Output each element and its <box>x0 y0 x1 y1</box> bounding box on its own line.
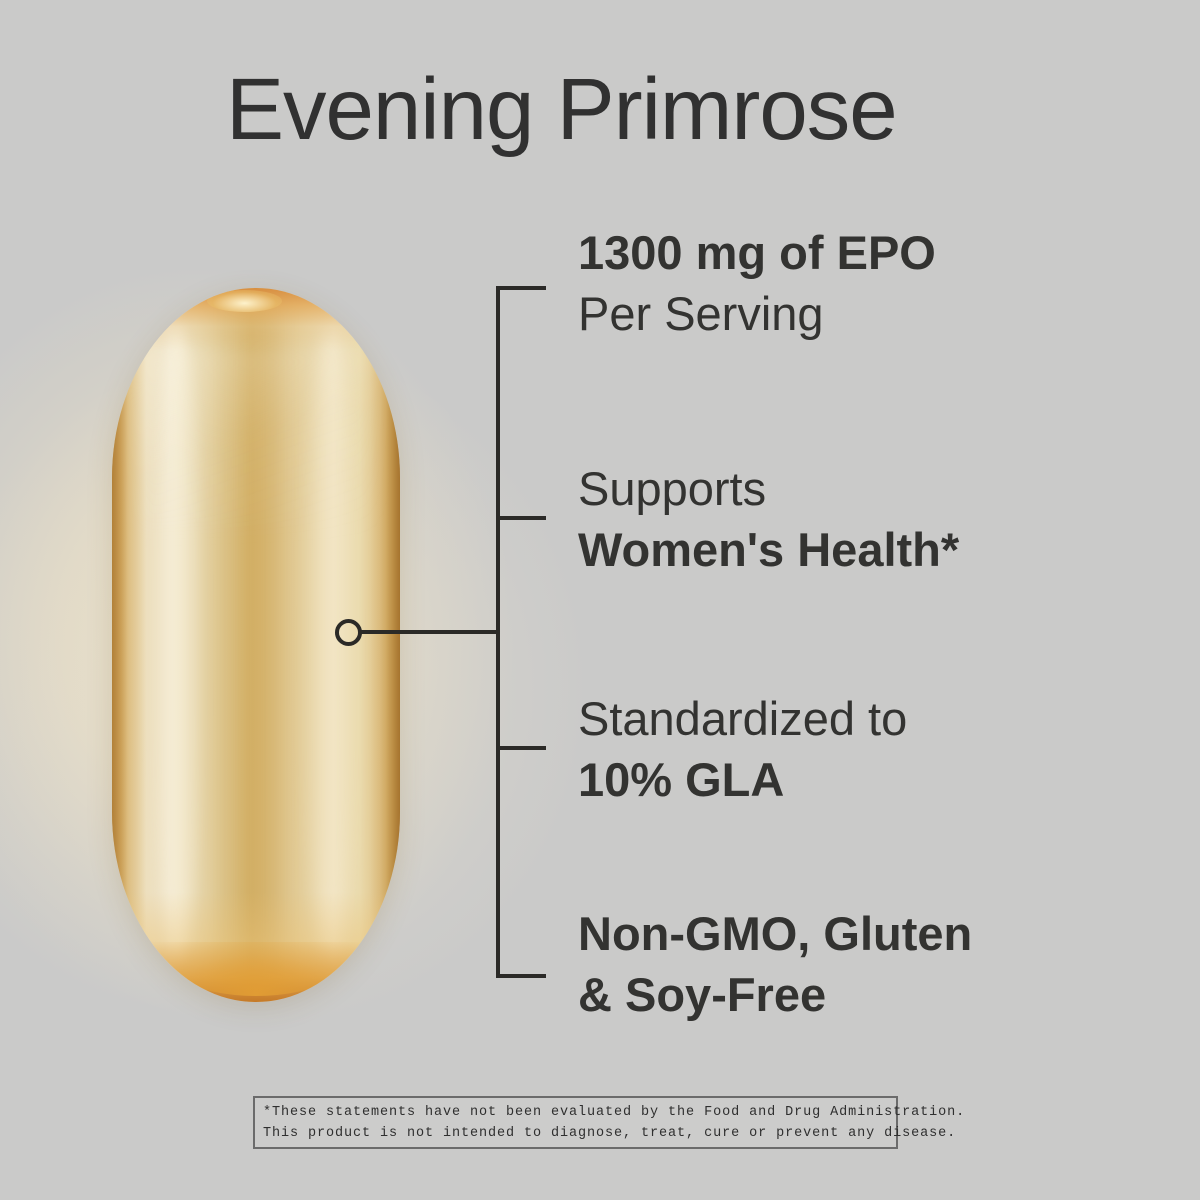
fda-disclaimer-box: *These statements have not been evaluate… <box>253 1096 898 1149</box>
callout-leader-line <box>360 630 500 634</box>
callout-standardization-line2: 10% GLA <box>578 749 1138 810</box>
callout-bracket-tick-top <box>496 286 546 290</box>
page-title: Evening Primrose <box>226 66 897 153</box>
callout-benefit-line2: Women's Health* <box>578 519 1138 580</box>
callout-certifications: Non-GMO, Gluten & Soy-Free <box>578 903 1138 1025</box>
softgel-capsule-body <box>112 288 400 1002</box>
callout-bracket-tick-third <box>496 746 546 750</box>
callout-marker-ring-icon <box>335 619 362 646</box>
callout-dosage-line2: Per Serving <box>578 283 1138 344</box>
callout-bracket-tick-second <box>496 516 546 520</box>
capsule-facet-sheen <box>135 345 377 531</box>
capsule-top-rim-highlight <box>207 290 282 312</box>
callout-benefit: Supports Women's Health* <box>578 458 1138 580</box>
callout-dosage-line1: 1300 mg of EPO <box>578 222 1138 283</box>
fda-disclaimer-line2: This product is not intended to diagnose… <box>263 1123 888 1144</box>
infographic-canvas: Evening Primrose 1300 mg of EPO Per Serv… <box>0 0 1200 1200</box>
callout-bracket-spine <box>496 286 500 978</box>
callout-dosage: 1300 mg of EPO Per Serving <box>578 222 1138 344</box>
callout-bracket-tick-bottom <box>496 974 546 978</box>
callout-benefit-line1: Supports <box>578 458 1138 519</box>
capsule-bottom-rim-glow <box>147 942 366 996</box>
callout-standardization: Standardized to 10% GLA <box>578 688 1138 810</box>
callout-certifications-line2: & Soy-Free <box>578 964 1138 1025</box>
product-image-softgel <box>112 288 400 1002</box>
callout-certifications-line1: Non-GMO, Gluten <box>578 903 1138 964</box>
fda-disclaimer-line1: *These statements have not been evaluate… <box>263 1102 888 1123</box>
callout-standardization-line1: Standardized to <box>578 688 1138 749</box>
